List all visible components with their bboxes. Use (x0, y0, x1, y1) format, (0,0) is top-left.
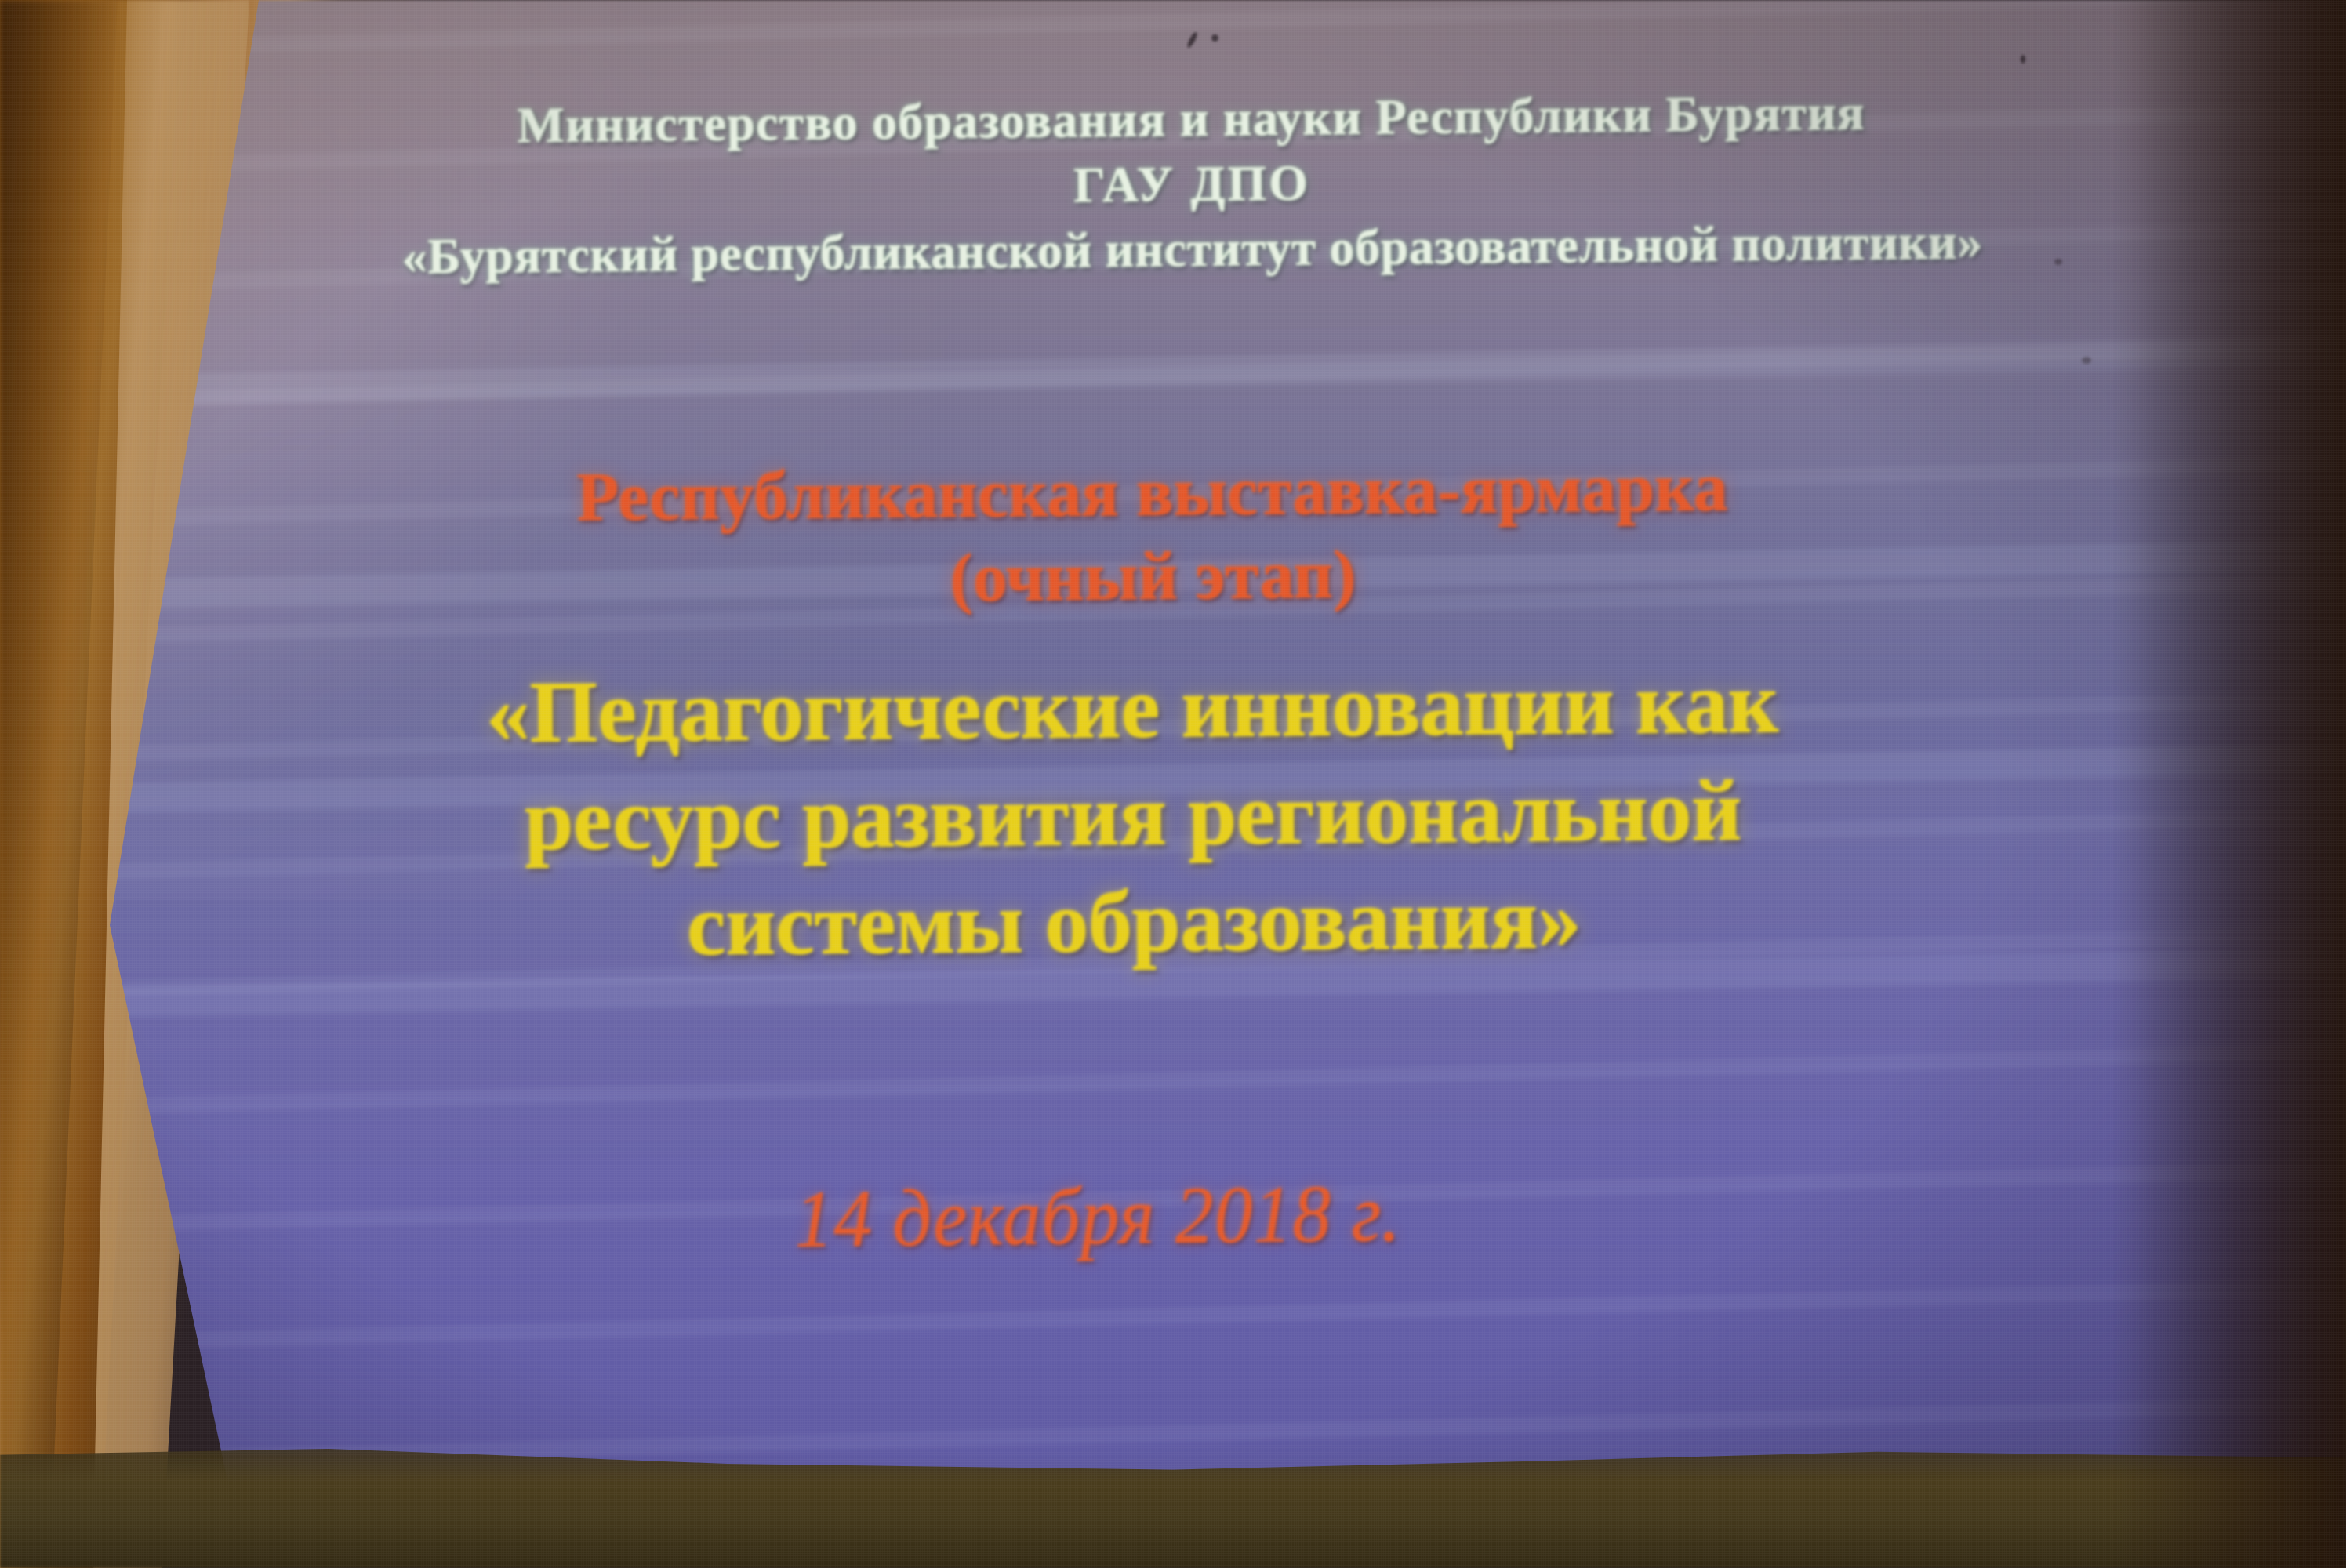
right-dark-edge (2111, 0, 2346, 1568)
screen-vignette (0, 0, 2346, 1499)
dust-speck (1211, 34, 1218, 42)
dust-speck (2021, 55, 2025, 64)
projection-screen: Министерство образования и науки Республ… (0, 0, 2346, 1499)
dust-speck (2054, 259, 2062, 265)
dust-speck (2082, 357, 2091, 364)
photo-of-projected-slide: Министерство образования и науки Республ… (0, 0, 2346, 1568)
